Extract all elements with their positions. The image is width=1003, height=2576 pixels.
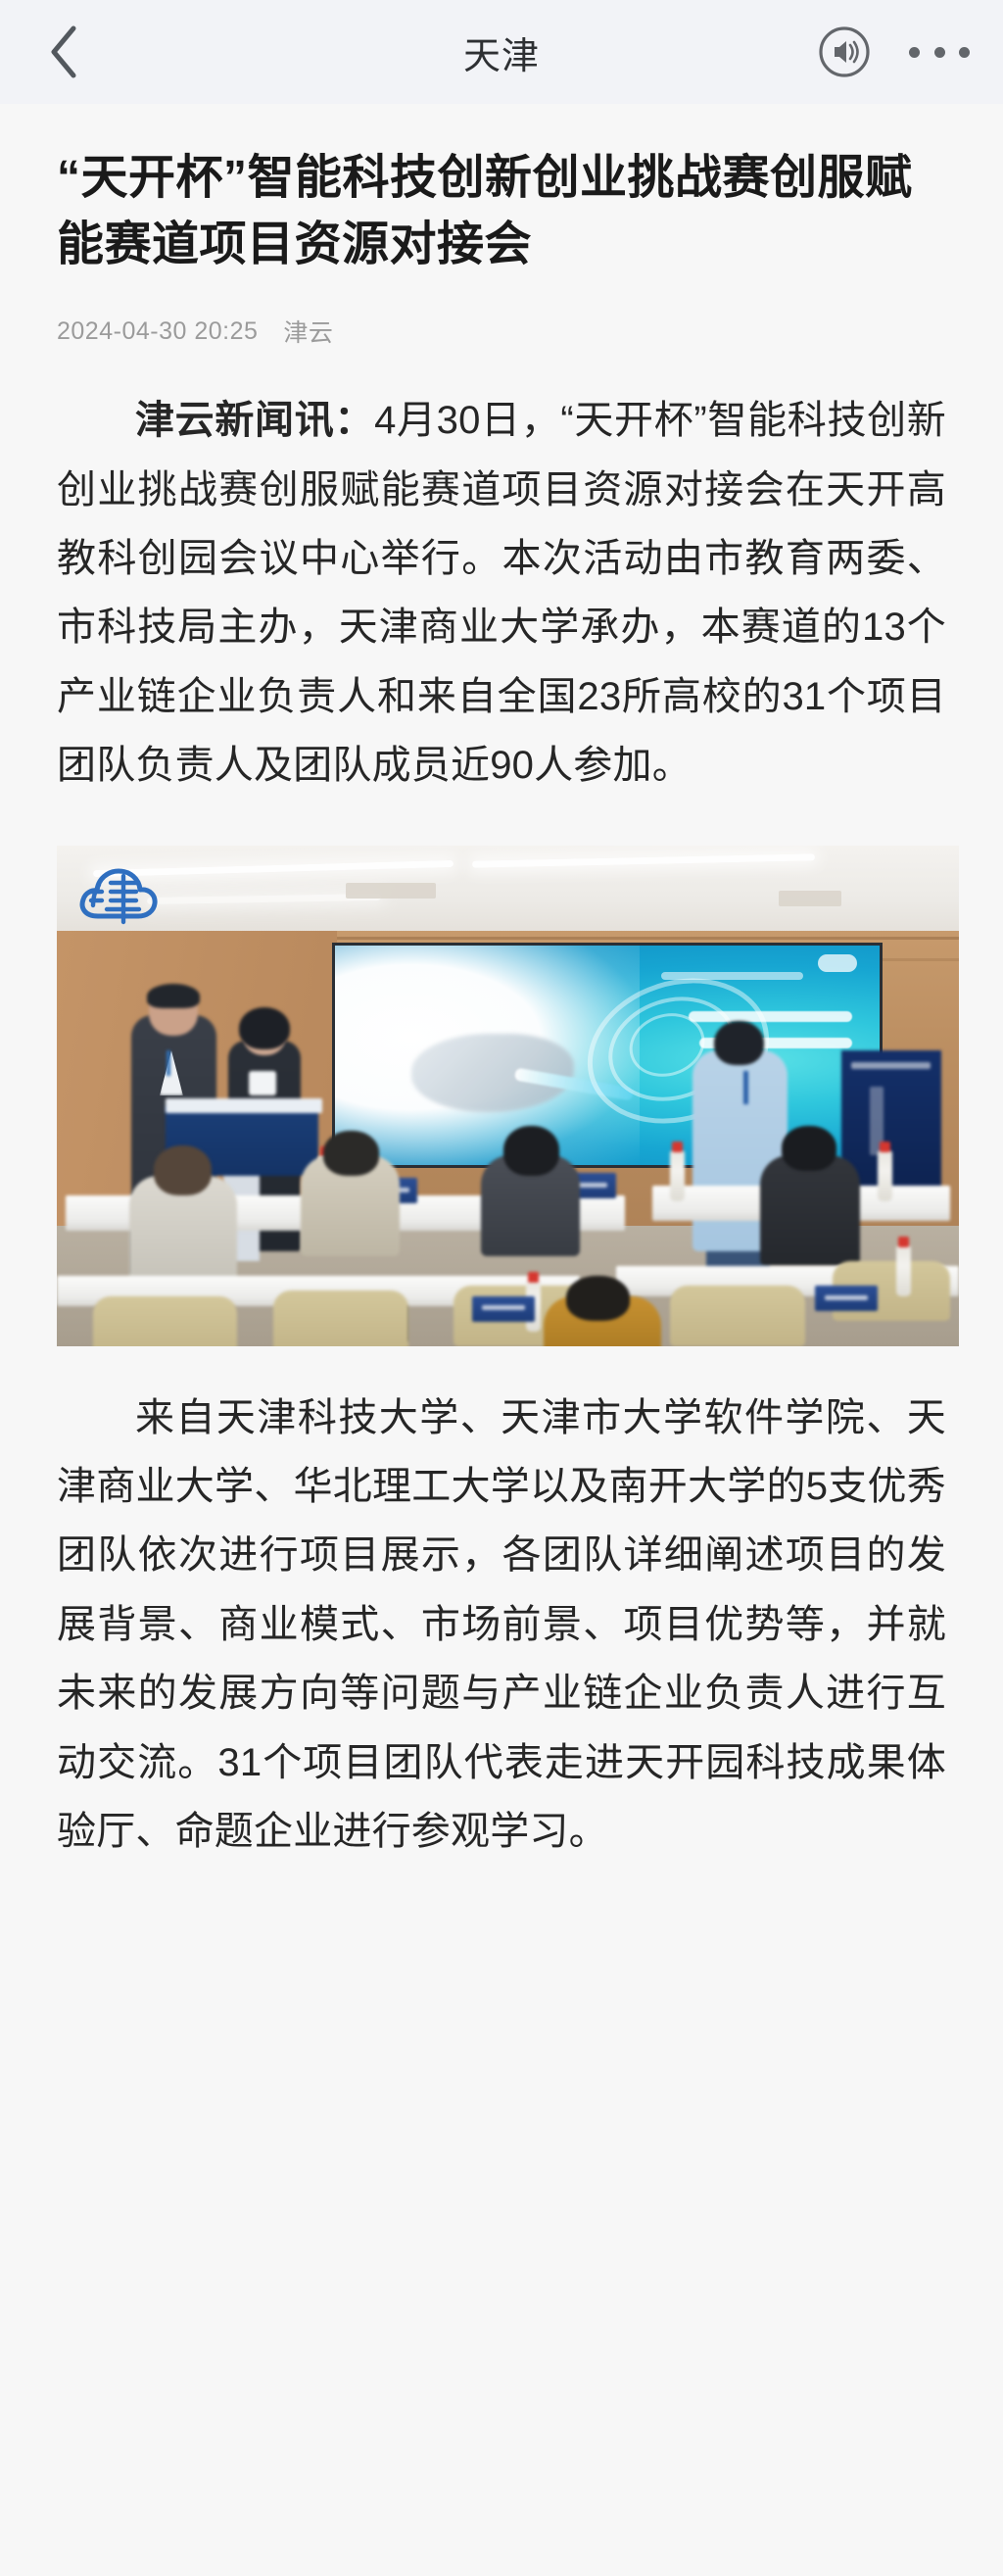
ceiling-vent: [779, 891, 841, 906]
more-options-icon[interactable]: [909, 24, 970, 79]
article-headline: “天开杯”智能科技创新创业挑战赛创服赋能赛道项目资源对接会: [57, 104, 946, 278]
paragraph-body: 4月30日，“天开杯”智能科技创新创业挑战赛创服赋能赛道项目资源对接会在天开高教…: [57, 399, 946, 787]
audience-head: [154, 1145, 212, 1195]
back-button[interactable]: [33, 22, 94, 82]
podium-top: [166, 1098, 322, 1113]
audience-member: [760, 1155, 859, 1265]
standing-man-head: [714, 1021, 765, 1066]
chair: [273, 1290, 408, 1345]
audience-head: [503, 1126, 559, 1176]
jinyun-watermark-icon: [76, 859, 161, 930]
speaker-volume-icon[interactable]: [817, 24, 872, 79]
water-bottle: [878, 1150, 892, 1201]
navbar-actions: [817, 24, 970, 79]
audience-head: [782, 1126, 836, 1171]
article-container: “天开杯”智能科技创新创业挑战赛创服赋能赛道项目资源对接会 2024-04-30…: [0, 104, 1003, 1924]
name-plate: [472, 1296, 535, 1322]
article-meta: 2024-04-30 20:25 津云: [57, 314, 946, 349]
audience-head: [323, 1131, 379, 1176]
lanyard: [167, 1050, 170, 1076]
dot: [959, 47, 970, 58]
paragraph-lead: 津云新闻讯：: [135, 399, 374, 442]
dot: [934, 47, 945, 58]
chair: [670, 1286, 805, 1345]
article-photo[interactable]: [57, 846, 959, 1346]
article-paragraph-1: 津云新闻讯：4月30日，“天开杯”智能科技创新创业挑战赛创服赋能赛道项目资源对接…: [57, 386, 946, 800]
water-bottle: [670, 1150, 685, 1201]
paragraph-body: 来自天津科技大学、天津市大学软件学院、天津商业大学、华北理工大学以及南开大学的5…: [57, 1396, 946, 1853]
name-plate: [815, 1286, 878, 1311]
top-navigation-bar: 天津: [0, 0, 1003, 104]
article-source: 津云: [283, 314, 333, 349]
photo-scene: [57, 846, 959, 1346]
presenter-male-hair: [147, 984, 199, 1009]
article-paragraph-2: 来自天津科技大学、天津市大学软件学院、天津商业大学、华北理工大学以及南开大学的5…: [57, 1384, 946, 1867]
lanyard: [743, 1071, 748, 1104]
water-bottle: [896, 1245, 911, 1296]
bottom-spacer: [57, 1866, 946, 1924]
publish-timestamp: 2024-04-30 20:25: [57, 317, 258, 346]
ceiling-vent: [346, 883, 436, 899]
dot: [909, 47, 920, 58]
presenter-female-collar: [249, 1071, 276, 1096]
chevron-left-icon: [47, 24, 80, 79]
presenter-female-hair: [239, 1007, 290, 1049]
chair: [93, 1296, 237, 1346]
audience-head: [566, 1276, 629, 1321]
